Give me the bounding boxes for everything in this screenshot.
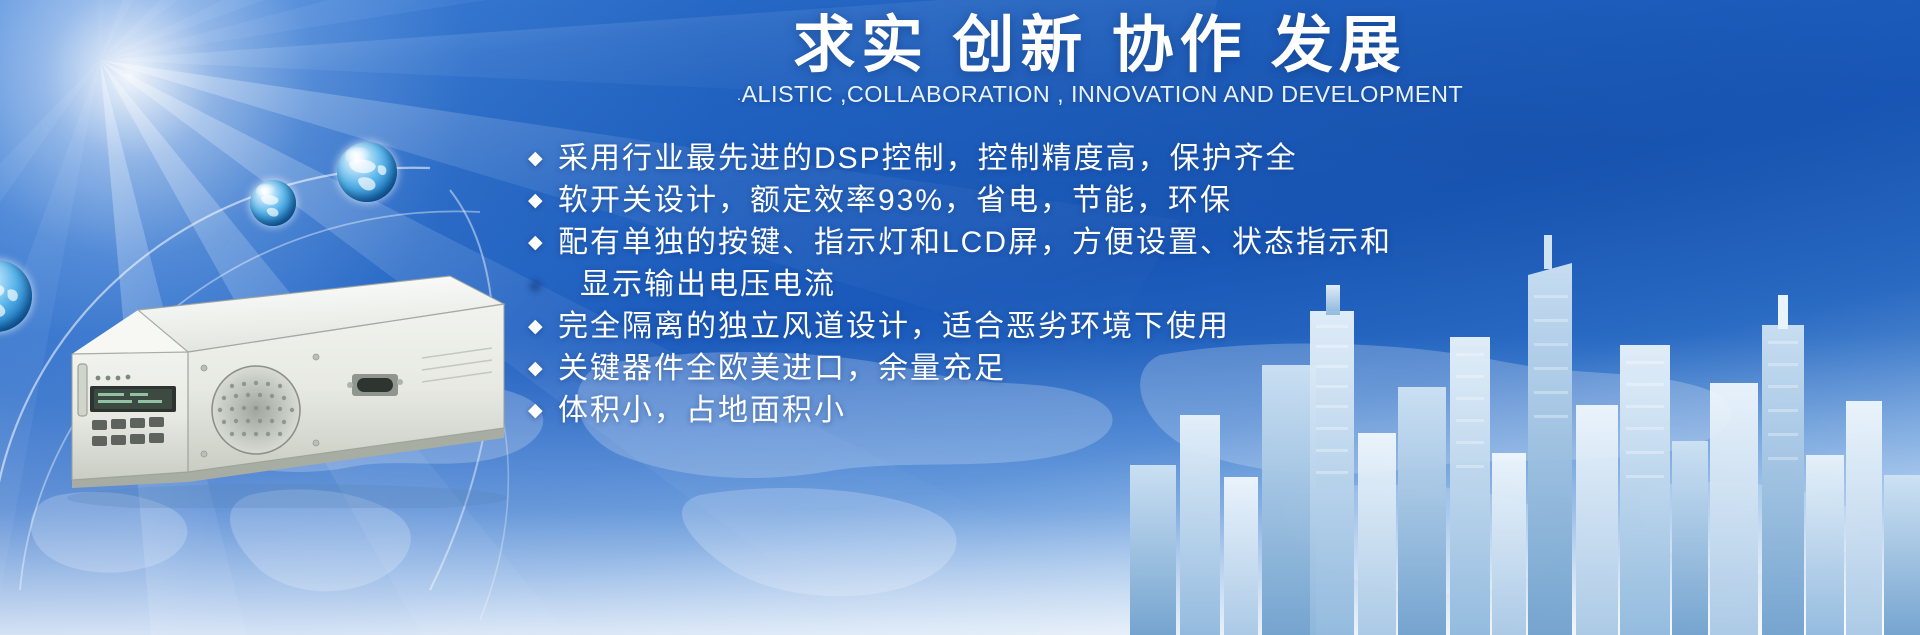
list-item-continuation: ◆ 显示输出电压电流 bbox=[528, 264, 1840, 306]
list-item-label: 体积小，占地面积小 bbox=[558, 390, 846, 432]
page-subtitle: .ALISTIC ,COLLABORATION , INNOVATION AND… bbox=[500, 81, 1840, 108]
diamond-bullet-icon: ◆ bbox=[528, 180, 558, 222]
list-item: ◆ 关键器件全欧美进口，余量充足 bbox=[528, 348, 1840, 390]
list-item-label: 软开关设计，额定效率93%，省电，节能，环保 bbox=[558, 180, 1232, 222]
globe-landmass-icon bbox=[250, 180, 296, 226]
rackmount-power-supply-product bbox=[52, 258, 522, 508]
banner-text-block: 求实 创新 协作 发展 .ALISTIC ,COLLABORATION , IN… bbox=[500, 14, 1840, 432]
list-item: ◆ 体积小，占地面积小 bbox=[528, 390, 1840, 432]
diamond-bullet-icon: ◆ bbox=[528, 348, 558, 390]
globe-icon bbox=[0, 260, 32, 332]
bullet-spacer: ◆ bbox=[528, 264, 558, 306]
diamond-bullet-icon: ◆ bbox=[528, 306, 558, 348]
globe-landmass-icon bbox=[337, 142, 397, 202]
list-item-label: 配有单独的按键、指示灯和LCD屏，方便设置、状态指示和 bbox=[558, 222, 1392, 264]
feature-list: ◆ 采用行业最先进的DSP控制，控制精度高，保护齐全 ◆ 软开关设计，额定效率9… bbox=[500, 138, 1840, 432]
subtitle-text: ALISTIC ,COLLABORATION , INNOVATION AND … bbox=[741, 81, 1463, 107]
list-item-label: 显示输出电压电流 bbox=[558, 264, 836, 306]
diamond-bullet-icon: ◆ bbox=[528, 390, 558, 432]
page-title: 求实 创新 协作 发展 bbox=[500, 14, 1840, 77]
globe-icon bbox=[250, 180, 296, 226]
list-item: ◆ 完全隔离的独立风道设计，适合恶劣环境下使用 bbox=[528, 306, 1840, 348]
diamond-bullet-icon: ◆ bbox=[528, 222, 558, 264]
list-item-label: 关键器件全欧美进口，余量充足 bbox=[558, 348, 1006, 390]
list-item-label: 完全隔离的独立风道设计，适合恶劣环境下使用 bbox=[558, 306, 1230, 348]
globe-landmass-icon bbox=[0, 260, 32, 332]
list-item: ◆ 采用行业最先进的DSP控制，控制精度高，保护齐全 bbox=[528, 138, 1840, 180]
list-item: ◆ 软开关设计，额定效率93%，省电，节能，环保 bbox=[528, 180, 1840, 222]
promo-banner: 求实 创新 协作 发展 .ALISTIC ,COLLABORATION , IN… bbox=[0, 0, 1920, 635]
diamond-bullet-icon: ◆ bbox=[528, 138, 558, 180]
list-item: ◆ 配有单独的按键、指示灯和LCD屏，方便设置、状态指示和 bbox=[528, 222, 1840, 264]
list-item-label: 采用行业最先进的DSP控制，控制精度高，保护齐全 bbox=[558, 138, 1298, 180]
globe-icon bbox=[337, 142, 397, 202]
